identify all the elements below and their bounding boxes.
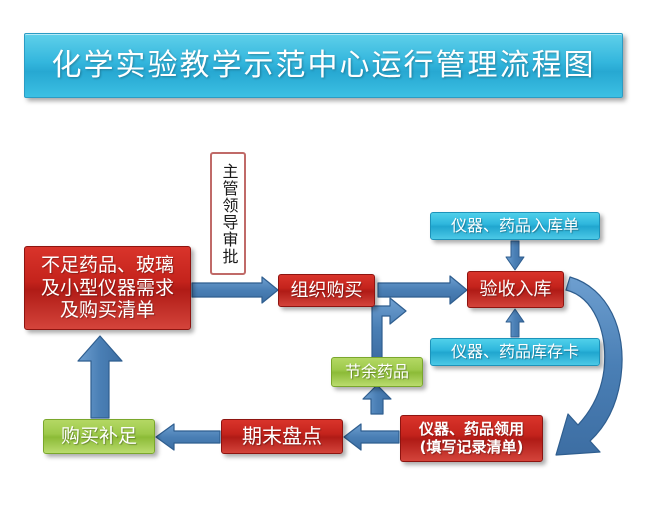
node-issue[interactable]: 仪器、药品领用 (填写记录清单)	[400, 415, 543, 462]
node-purchase-label: 组织购买	[291, 280, 363, 301]
arrow-surplus-to-purchase	[372, 298, 406, 358]
arrow-need-to-purchase	[192, 277, 278, 303]
node-stock-card-label: 仪器、药品库存卡	[451, 343, 579, 362]
flowchart-canvas: 化学实验教学示范中心运行管理流程图	[0, 0, 646, 523]
arrow-issue-to-surplus	[363, 385, 391, 414]
node-inbound-form-label: 仪器、药品入库单	[451, 217, 579, 236]
node-approval[interactable]: 主管领导审批	[210, 152, 246, 275]
arrow-stockcard-to-accept	[506, 309, 524, 337]
node-replenish[interactable]: 购买补足	[43, 419, 155, 454]
node-approval-label: 主管领导审批	[219, 163, 238, 265]
node-need[interactable]: 不足药品、玻璃 及小型仪器需求 及购买清单	[24, 246, 191, 330]
arrow-count-to-replenish	[156, 424, 220, 450]
arrow-issue-to-count	[344, 424, 399, 450]
arrow-inform-to-accept	[506, 241, 524, 270]
node-stocktaking[interactable]: 期末盘点	[221, 419, 343, 454]
node-stock-card[interactable]: 仪器、药品库存卡	[430, 338, 600, 366]
node-need-label: 不足药品、玻璃 及小型仪器需求 及购买清单	[41, 254, 174, 321]
arrow-accept-to-issue	[556, 277, 622, 455]
node-replenish-label: 购买补足	[61, 425, 137, 447]
node-surplus-label: 节余药品	[345, 363, 409, 382]
node-acceptance-label: 验收入库	[480, 279, 552, 300]
node-issue-label: 仪器、药品领用 (填写记录清单)	[419, 421, 524, 456]
node-surplus[interactable]: 节余药品	[331, 357, 423, 387]
node-stocktaking-label: 期末盘点	[242, 425, 322, 449]
node-inbound-form[interactable]: 仪器、药品入库单	[430, 212, 600, 240]
node-purchase[interactable]: 组织购买	[278, 274, 375, 307]
node-acceptance[interactable]: 验收入库	[467, 271, 564, 308]
arrow-replenish-to-need	[78, 336, 122, 418]
